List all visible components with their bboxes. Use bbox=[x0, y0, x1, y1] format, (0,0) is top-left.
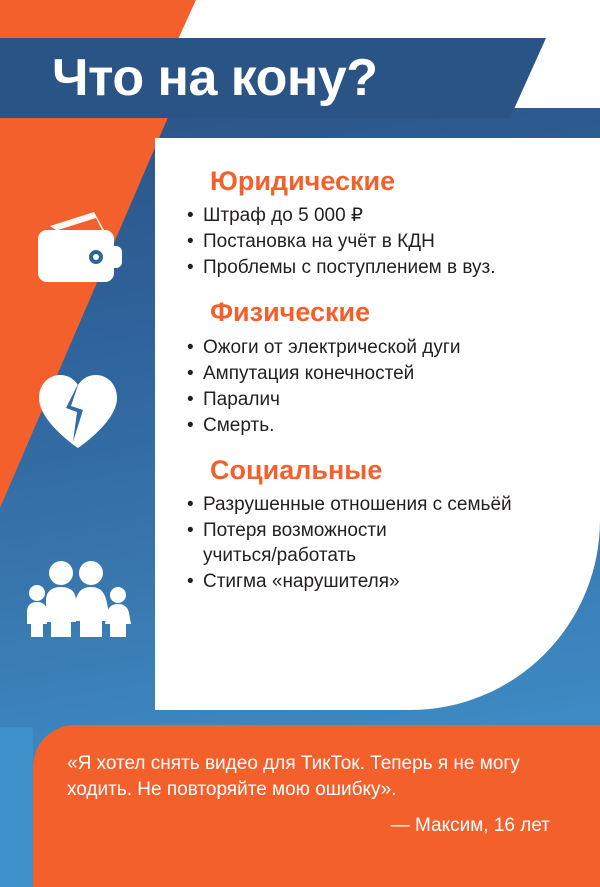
family-icon bbox=[0, 548, 155, 648]
section-legal: Юридические Штраф до 5 000 ₽ Постановка … bbox=[185, 166, 594, 280]
list-item: Штраф до 5 000 ₽ bbox=[185, 203, 594, 228]
broken-heart-icon bbox=[0, 362, 155, 462]
list-item: Паралич bbox=[185, 387, 594, 412]
section-social: Социальные Разрушенные отношения с семьё… bbox=[185, 455, 594, 595]
list-item: Ожоги от электрической дуги bbox=[185, 335, 594, 360]
list-item: Стигма «нарушителя» bbox=[185, 569, 594, 594]
section-title-legal: Юридические bbox=[210, 166, 594, 196]
quote-text: «Я хотел снять видео для ТикТок. Теперь … bbox=[67, 751, 572, 803]
list-item: Потеря возможности учиться/работать bbox=[185, 518, 594, 568]
content-card: Юридические Штраф до 5 000 ₽ Постановка … bbox=[155, 138, 600, 710]
list-item: Разрушенные отношения с семьёй bbox=[185, 492, 594, 517]
bullet-list-legal: Штраф до 5 000 ₽ Постановка на учёт в КД… bbox=[185, 203, 594, 280]
bullet-list-social: Разрушенные отношения с семьёй Потеря во… bbox=[185, 492, 594, 594]
section-physical: Физические Ожоги от электрической дуги А… bbox=[185, 297, 594, 438]
list-item: Смерть. bbox=[185, 413, 594, 438]
quote-block: «Я хотел снять видео для ТикТок. Теперь … bbox=[33, 725, 600, 887]
section-title-physical: Физические bbox=[210, 297, 594, 327]
bullet-list-physical: Ожоги от электрической дуги Ампутация ко… bbox=[185, 335, 594, 438]
page-title: Что на кону? bbox=[0, 52, 378, 104]
list-item: Постановка на учёт в КДН bbox=[185, 229, 594, 254]
section-title-social: Социальные bbox=[210, 455, 594, 485]
poster: Что на кону? Юридические Штраф до 5 000 … bbox=[0, 0, 600, 887]
sections-list: Юридические Штраф до 5 000 ₽ Постановка … bbox=[185, 166, 594, 596]
wallet-icon bbox=[0, 196, 155, 306]
title-banner: Что на кону? bbox=[0, 38, 546, 118]
background-blue-strip bbox=[0, 727, 33, 887]
quote-author: — Максим, 16 лет bbox=[67, 815, 572, 837]
list-item: Ампутация конечностей bbox=[185, 361, 594, 386]
list-item: Проблемы с поступлением в вуз. bbox=[185, 255, 594, 280]
